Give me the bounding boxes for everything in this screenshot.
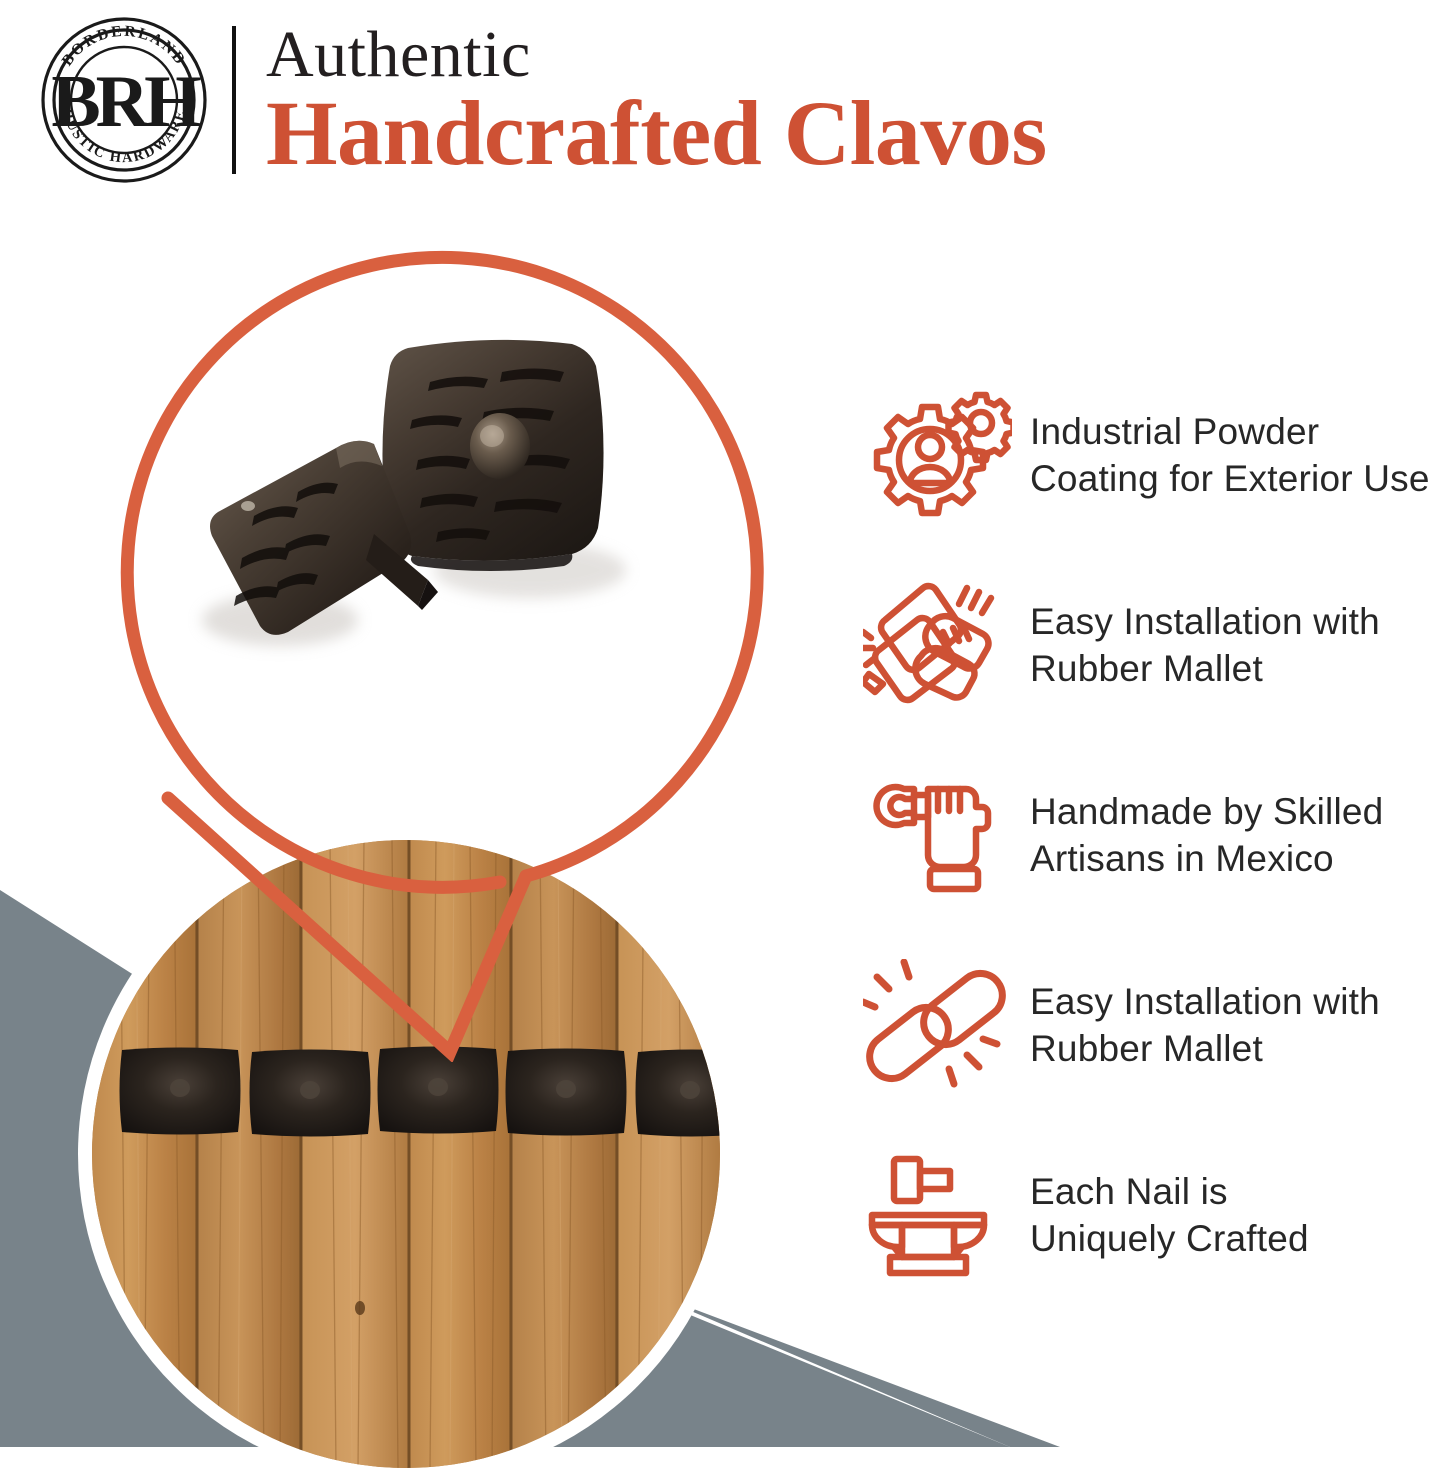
feature-text-line2: Uniquely Crafted <box>1030 1215 1309 1262</box>
gear-person-icon <box>845 389 1030 521</box>
feature-text-line2: Artisans in Mexico <box>1030 835 1383 882</box>
wood-door-with-clavos <box>92 840 720 1468</box>
feature-list: Industrial Powder Coating for Exterior U… <box>845 360 1445 1310</box>
feature-text-line2: Rubber Mallet <box>1030 1025 1380 1072</box>
clavo-nail <box>120 1048 241 1135</box>
feature-text-line1: Each Nail is <box>1030 1168 1309 1215</box>
feature-text-line1: Easy Installation with <box>1030 978 1380 1025</box>
header-divider <box>232 26 236 174</box>
clavo-nail <box>378 1047 499 1134</box>
clavos-nails-closeup <box>160 320 740 780</box>
feature-text: Easy Installation with Rubber Mallet <box>1030 978 1380 1073</box>
feature-text: Each Nail is Uniquely Crafted <box>1030 1168 1309 1263</box>
feature-text-line1: Industrial Powder <box>1030 408 1430 455</box>
feature-item: Easy Installation with Rubber Mallet <box>845 930 1445 1120</box>
feature-text: Easy Installation with Rubber Mallet <box>1030 598 1380 693</box>
anvil-hammer-icon <box>845 1149 1030 1281</box>
header: BORDERLAND RUSTIC HARDWARE BRH Authentic… <box>0 0 1445 200</box>
clavo-nail <box>250 1050 371 1137</box>
clavo-nail <box>506 1049 627 1136</box>
feature-text-line1: Handmade by Skilled <box>1030 788 1383 835</box>
door-planks <box>92 840 720 1468</box>
page-title: Authentic Handcrafted Clavos <box>266 19 1047 182</box>
logo-wrap: BORDERLAND RUSTIC HARDWARE BRH <box>0 14 210 186</box>
fist-wrench-icon <box>845 771 1030 899</box>
feature-text-line2: Rubber Mallet <box>1030 645 1380 692</box>
visual-area <box>0 200 790 1447</box>
feature-text-line2: Coating for Exterior Use <box>1030 455 1430 502</box>
feature-item: Industrial Powder Coating for Exterior U… <box>845 360 1445 550</box>
feature-text: Handmade by Skilled Artisans in Mexico <box>1030 788 1383 883</box>
logo-monogram: BRH <box>51 61 201 143</box>
hand-mallet-icon <box>845 582 1030 708</box>
title-line-authentic: Authentic <box>266 23 1047 88</box>
feature-text-line1: Easy Installation with <box>1030 598 1380 645</box>
feature-item: Easy Installation with Rubber Mallet <box>845 550 1445 740</box>
feature-item: Each Nail is Uniquely Crafted <box>845 1120 1445 1310</box>
clavo-face-view <box>382 340 603 571</box>
title-line-handcrafted-clavos: Handcrafted Clavos <box>266 87 1047 181</box>
chain-link-icon <box>845 959 1030 1091</box>
feature-text: Industrial Powder Coating for Exterior U… <box>1030 408 1430 503</box>
borderland-rustic-hardware-logo: BORDERLAND RUSTIC HARDWARE BRH <box>38 14 210 186</box>
feature-item: Handmade by Skilled Artisans in Mexico <box>845 740 1445 930</box>
